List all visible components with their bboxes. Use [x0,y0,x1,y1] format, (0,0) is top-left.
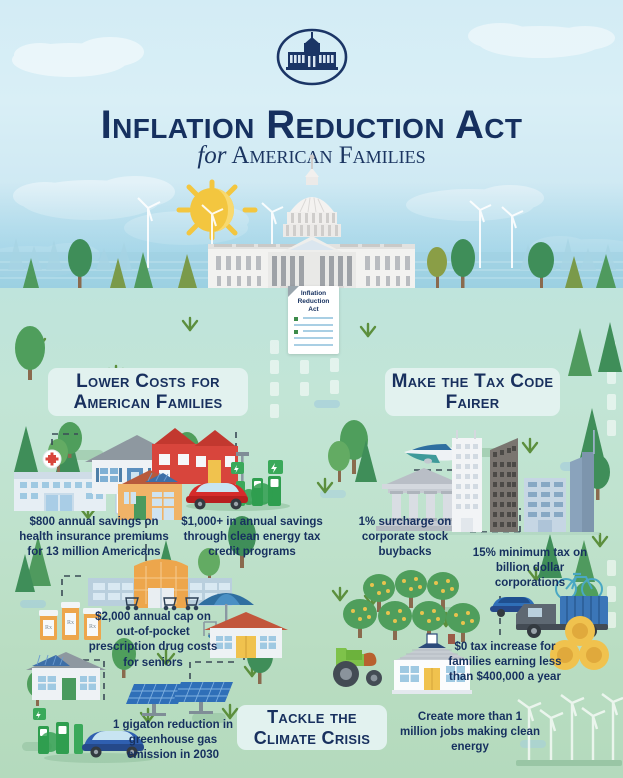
tree-icon [580,408,604,458]
banner-lower-costs[interactable]: Lower Costs for American Families [48,368,248,416]
fact-minimum-tax: 15% minimum tax on billion dollar corpor… [466,546,594,592]
banner-tax-code[interactable]: Make the Tax Code Fairer [385,368,560,416]
tree-icon [15,326,45,380]
tree-icon [14,426,38,472]
fact-gigaton: 1 gigaton reduction in greenhouse gas em… [108,718,238,764]
fact-drug-costs: $2,000 annual cap on out-of-pocket presc… [88,610,218,671]
tree-icon [568,328,592,376]
tree-icon [598,322,622,372]
infographic-poster: Inflation Reduction Act for American Fam… [0,0,623,778]
banner-climate[interactable]: Tackle the Climate Crisis [237,705,387,750]
orchard-trees-icon [343,570,480,642]
solar-panels-icon [126,682,233,716]
svg-text:Rx: Rx [45,625,52,631]
fact-stock-buybacks: 1% surcharge on corporate stock buybacks [340,515,470,561]
fact-clean-energy-jobs: Create more than 1 million jobs making c… [400,710,540,756]
fact-health-savings: $800 annual savings on health insurance … [14,515,174,561]
svg-text:Rx: Rx [67,620,74,626]
fact-clean-energy: $1,000+ in annual savings through clean … [176,515,328,561]
tree-icon [328,441,350,482]
tractor-icon [333,648,382,687]
fact-no-tax-increase: $0 tax increase for families earning les… [440,640,570,686]
